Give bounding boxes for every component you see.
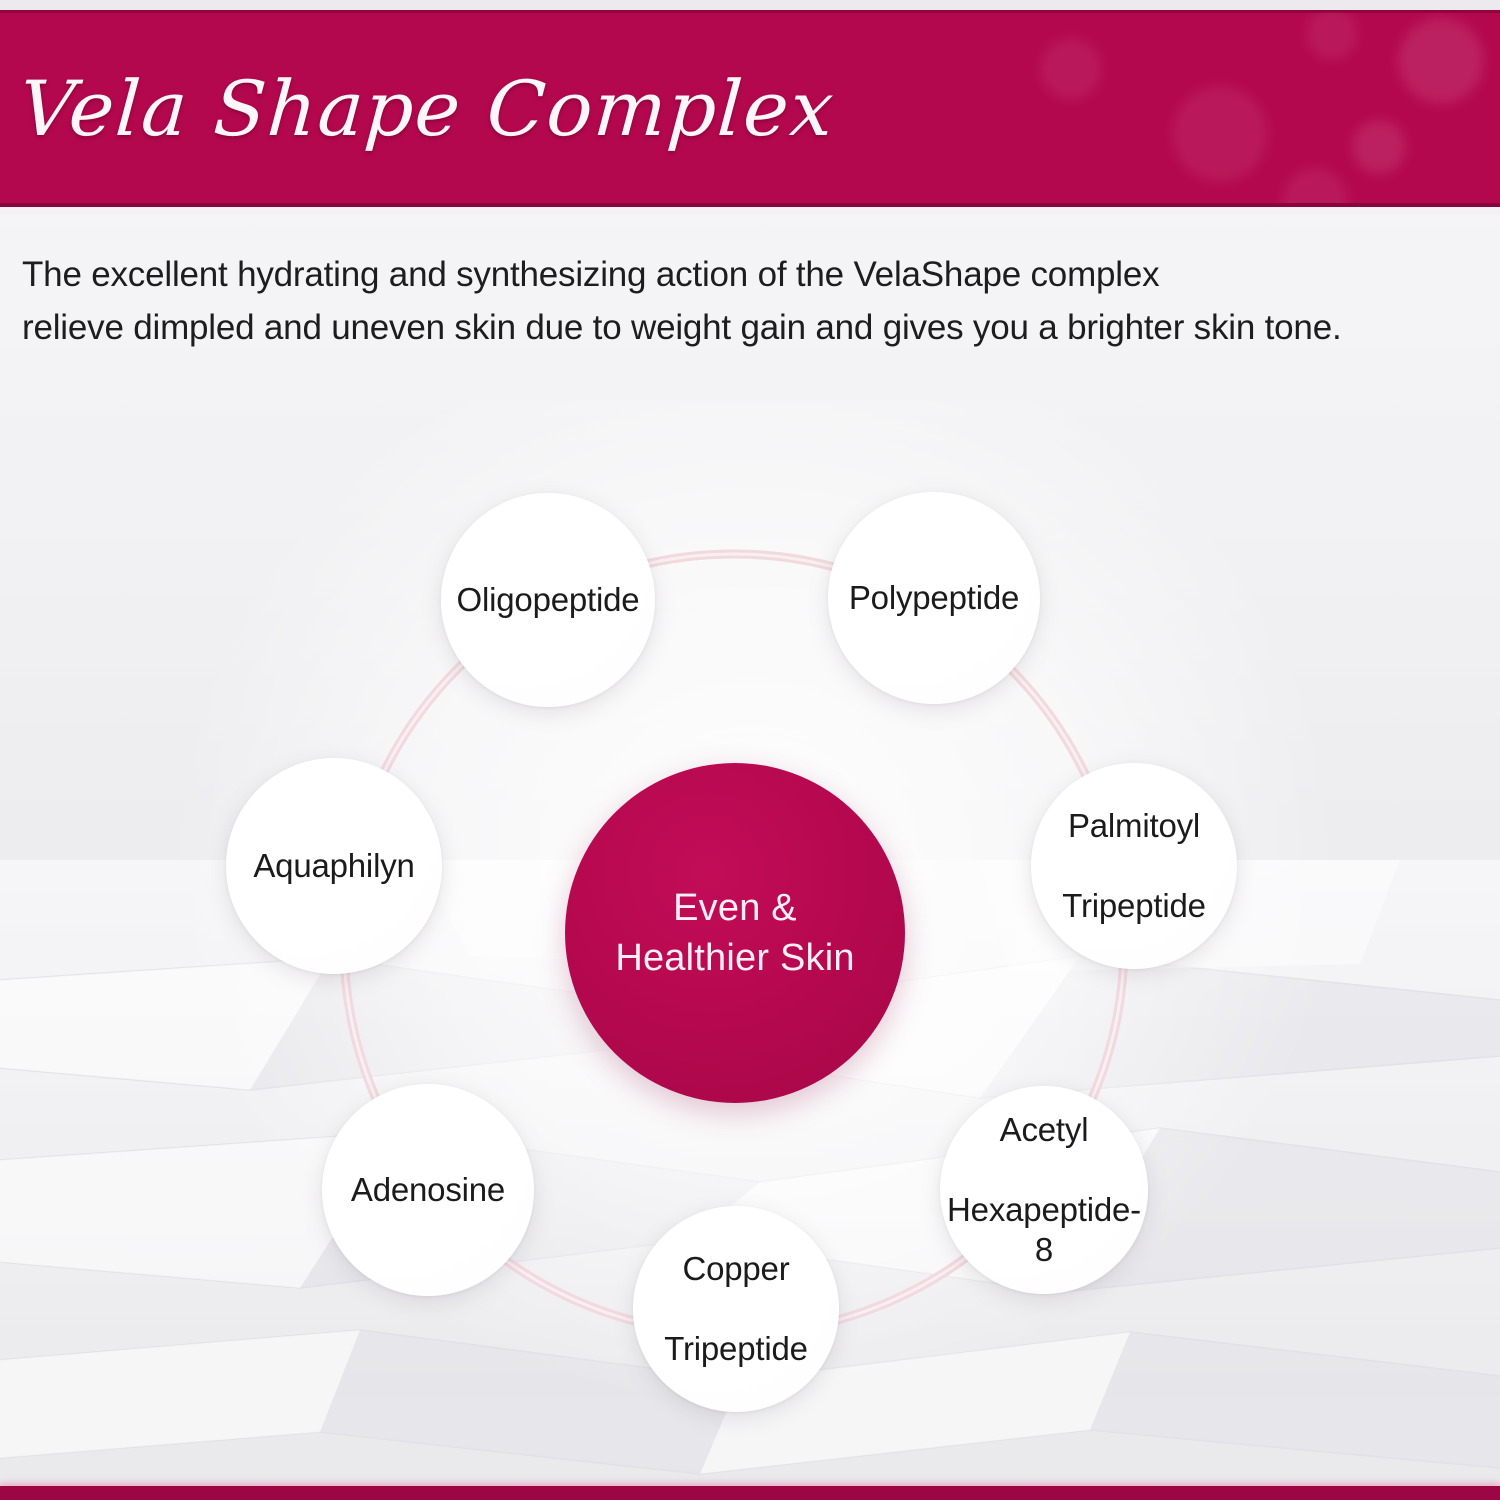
node-label: Polypeptide (835, 578, 1033, 618)
node-label-line-1: Copper (650, 1249, 822, 1289)
node-label-line-1: Acetyl (933, 1110, 1155, 1150)
center-node-even-healthier-skin[interactable]: Even & Healthier Skin (565, 763, 905, 1103)
node-aquaphilyn[interactable]: Aquaphilyn (226, 758, 442, 974)
node-oligopeptide[interactable]: Oligopeptide (441, 493, 655, 707)
node-palmitoyl-tripeptide[interactable]: Palmitoyl Tripeptide (1031, 763, 1237, 969)
node-label: Oligopeptide (443, 580, 654, 620)
node-copper-tripeptide[interactable]: Copper Tripeptide (633, 1206, 839, 1412)
node-polypeptide[interactable]: Polypeptide (828, 492, 1040, 704)
node-label: Aquaphilyn (239, 846, 428, 886)
footer-bar (0, 1486, 1500, 1500)
ingredient-wheel-diagram: Oligopeptide Polypeptide Palmitoyl Tripe… (0, 0, 1500, 1500)
node-acetyl-hexapeptide-8[interactable]: Acetyl Hexapeptide-8 (940, 1086, 1148, 1294)
node-label-line-2: Tripeptide (1048, 886, 1220, 926)
node-label-line-2: Hexapeptide-8 (933, 1190, 1155, 1270)
infographic-canvas: Vela Shape Complex The excellent hydrati… (0, 0, 1500, 1500)
footer-highlight (0, 1479, 1500, 1486)
center-label-line-2: Healthier Skin (615, 937, 854, 979)
node-label: Adenosine (337, 1170, 519, 1210)
node-label-line-2: Tripeptide (650, 1329, 822, 1369)
node-adenosine[interactable]: Adenosine (322, 1084, 534, 1296)
center-label-line-1: Even & (673, 887, 797, 929)
node-label-line-1: Palmitoyl (1048, 806, 1220, 846)
